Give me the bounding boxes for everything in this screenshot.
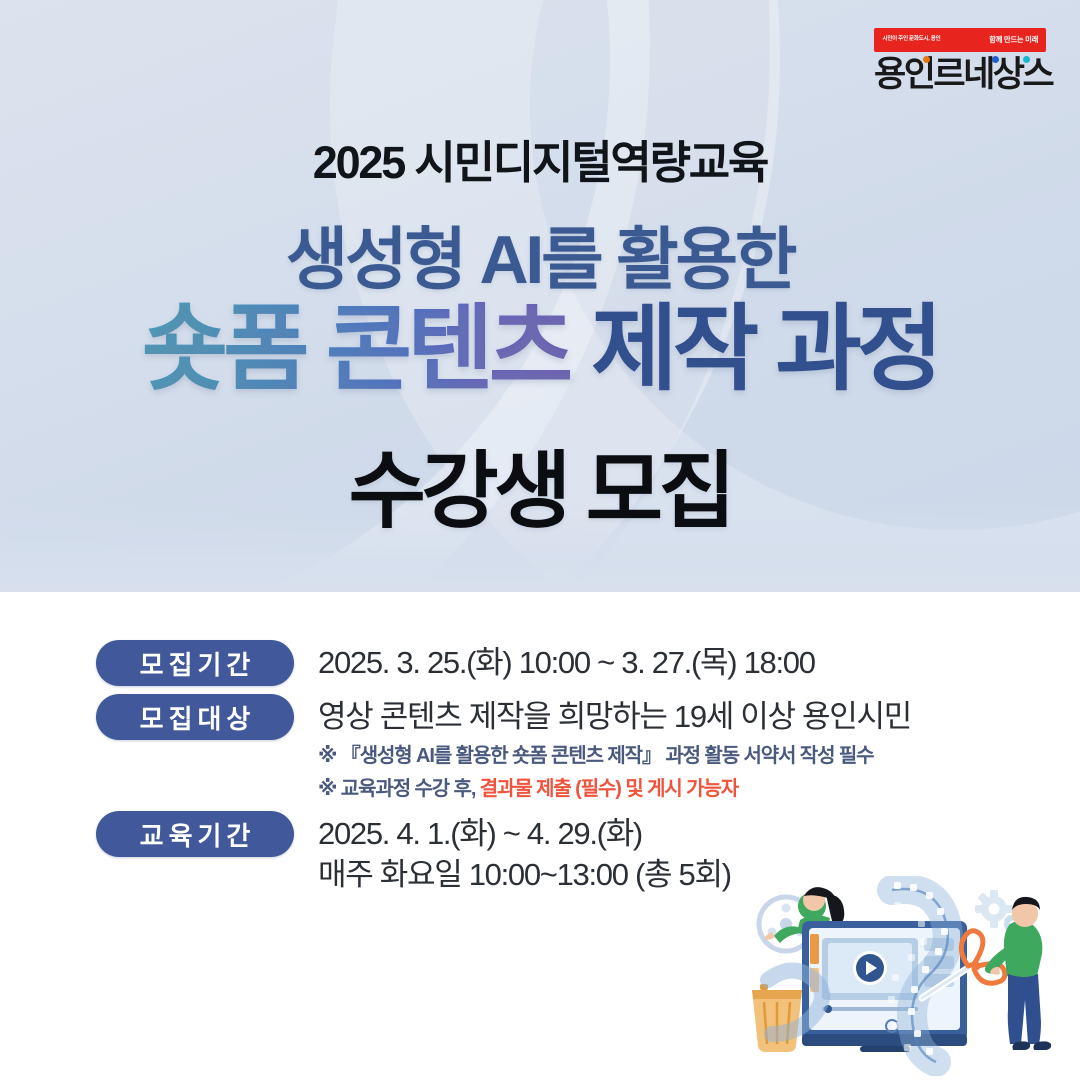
label-target-audience: 모집대상 [96, 694, 294, 740]
note-submission-required: ※ 교육과정 수강 후, 결과물 제출 (필수) 및 게시 가능자 [318, 775, 911, 803]
value-education-period-schedule: 매주 화요일 10:00~13:00 (총 5회) [318, 855, 731, 895]
poster-root: 시민이 주인 문화도시, 용인 함께 만드는 미래 용인르네상스 2025 시민… [0, 0, 1080, 1080]
info-section: 모집기간 2025. 3. 25.(화) 10:00 ~ 3. 27.(목) 1… [96, 640, 996, 903]
info-row-target-audience: 모집대상 영상 콘텐츠 제작을 희망하는 19세 이상 용인시민 ※ 『생성형 … [96, 694, 996, 803]
logo-accent-dot-orange [923, 56, 930, 63]
logo-wordmark: 용인르네상스 [874, 57, 1046, 92]
info-row-recruitment-period: 모집기간 2025. 3. 25.(화) 10:00 ~ 3. 27.(목) 1… [96, 640, 996, 686]
info-row-education-period: 교육기간 2025. 4. 1.(화) ~ 4. 29.(화) 매주 화요일 1… [96, 811, 996, 895]
value-target-audience-body: 영상 콘텐츠 제작을 희망하는 19세 이상 용인시민 ※ 『생성형 AI를 활… [318, 694, 911, 803]
program-headline: 숏폼 콘텐츠 제작 과정 [0, 298, 1080, 400]
headline-gradient-part: 숏폼 콘텐츠 [142, 296, 571, 401]
logo-slogan-left: 시민이 주인 문화도시, 용인 [883, 37, 941, 44]
yongin-renaissance-logo: 시민이 주인 문화도시, 용인 함께 만드는 미래 용인르네상스 [874, 28, 1046, 92]
value-education-period-body: 2025. 4. 1.(화) ~ 4. 29.(화) 매주 화요일 10:00~… [318, 811, 731, 895]
logo-slogan-bar: 시민이 주인 문화도시, 용인 함께 만드는 미래 [874, 28, 1046, 52]
label-recruitment-period: 모집기간 [96, 640, 294, 686]
value-recruitment-period-body: 2025. 3. 25.(화) 10:00 ~ 3. 27.(목) 18:00 [318, 640, 815, 683]
logo-accent-dot-blue [992, 56, 999, 63]
logo-slogan-right: 함께 만드는 미래 [989, 35, 1038, 44]
program-subhead: 생성형 AI를 활용한 [0, 204, 1080, 303]
value-recruitment-period: 2025. 3. 25.(화) 10:00 ~ 3. 27.(목) 18:00 [318, 643, 815, 683]
program-kicker: 2025 시민디지털역량교육 [0, 126, 1080, 191]
note-submission-highlight: 결과물 제출 (필수) 및 게시 가능자 [480, 778, 738, 800]
value-education-period-dates: 2025. 4. 1.(화) ~ 4. 29.(화) [318, 814, 731, 854]
logo-accent-dot-cyan [1023, 56, 1030, 63]
video-editing-illustration [742, 876, 1072, 1076]
headline-solid-part: 제작 과정 [570, 296, 938, 401]
note-submission-text: ※ 교육과정 수강 후, [318, 778, 480, 800]
note-pledge-required: ※ 『생성형 AI를 활용한 숏폼 콘텐츠 제작』 과정 활동 서약서 작성 필… [318, 742, 911, 770]
label-education-period: 교육기간 [96, 811, 294, 857]
note-pledge-text: ※ 『생성형 AI를 활용한 숏폼 콘텐츠 제작』 과정 활동 서약서 작성 필… [318, 745, 873, 767]
recruitment-title: 수강생 모집 [0, 424, 1080, 545]
value-target-audience: 영상 콘텐츠 제작을 희망하는 19세 이상 용인시민 [318, 697, 911, 737]
